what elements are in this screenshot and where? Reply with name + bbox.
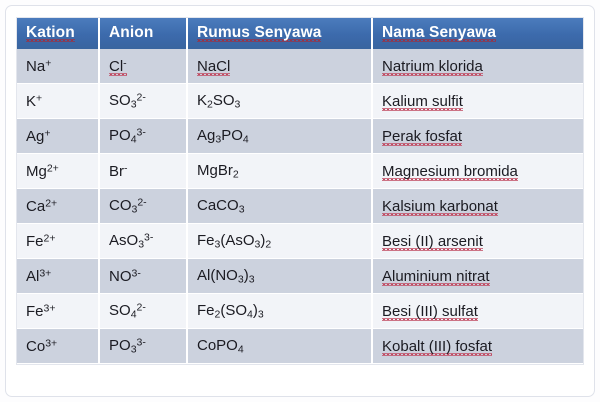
table-header: KationAnionRumus SenyawaNama Senyawa [17, 18, 583, 49]
cell-rumus[interactable]: Ag3PO4 [187, 119, 372, 154]
cell-anion[interactable]: Br- [99, 154, 187, 189]
column-header-label: Kation [26, 24, 75, 42]
chemistry-compounds-table: KationAnionRumus SenyawaNama Senyawa Na+… [17, 18, 583, 364]
table-row[interactable]: Fe2+AsO33-Fe3(AsO3)2Besi (II) arsenit [17, 224, 583, 259]
cell-value: Natrium klorida [382, 58, 483, 76]
cell-value: Fe2(SO4)3 [197, 302, 264, 319]
cell-anion[interactable]: PO43- [99, 119, 187, 154]
cell-value: Ag3PO4 [197, 127, 249, 144]
table-row[interactable]: K+SO32-K2SO3Kalium sulfit [17, 84, 583, 119]
cell-value: K+ [26, 93, 42, 110]
table-row[interactable]: Co3+PO33-CoPO4Kobalt (III) fosfat [17, 329, 583, 364]
cell-anion[interactable]: Cl- [99, 49, 187, 84]
cell-value: K2SO3 [197, 92, 240, 109]
header-row: KationAnionRumus SenyawaNama Senyawa [17, 18, 583, 49]
cell-nama[interactable]: Besi (III) sulfat [372, 294, 583, 329]
cell-value: CO32- [109, 197, 147, 214]
cell-value: Al3+ [26, 268, 51, 285]
cell-rumus[interactable]: Fe2(SO4)3 [187, 294, 372, 329]
cell-kation[interactable]: Na+ [17, 49, 99, 84]
cell-nama[interactable]: Kalium sulfit [372, 84, 583, 119]
cell-value: Kobalt (III) fosfat [382, 338, 492, 356]
cell-value: Kalsium karbonat [382, 198, 498, 216]
cell-rumus[interactable]: Al(NO3)3 [187, 259, 372, 294]
table-row[interactable]: Fe3+SO42-Fe2(SO4)3Besi (III) sulfat [17, 294, 583, 329]
cell-kation[interactable]: K+ [17, 84, 99, 119]
cell-value: Fe2+ [26, 233, 56, 250]
column-header-label: Rumus Senyawa [197, 24, 321, 42]
column-header-label: Anion [109, 24, 153, 41]
cell-value: Magnesium bromida [382, 163, 518, 181]
cell-value: Kalium sulfit [382, 93, 463, 111]
column-header-rumus[interactable]: Rumus Senyawa [187, 18, 372, 49]
cell-kation[interactable]: Al3+ [17, 259, 99, 294]
table-row[interactable]: Al3+NO3-Al(NO3)3Aluminium nitrat [17, 259, 583, 294]
cell-value: SO32- [109, 92, 146, 109]
cell-nama[interactable]: Kobalt (III) fosfat [372, 329, 583, 364]
cell-rumus[interactable]: CoPO4 [187, 329, 372, 364]
cell-value: Mg2+ [26, 163, 59, 180]
cell-nama[interactable]: Besi (II) arsenit [372, 224, 583, 259]
cell-nama[interactable]: Aluminium nitrat [372, 259, 583, 294]
cell-value: SO42- [109, 302, 146, 319]
cell-rumus[interactable]: NaCl [187, 49, 372, 84]
cell-value: Co3+ [26, 338, 57, 355]
table-row[interactable]: Mg2+Br-MgBr2Magnesium bromida [17, 154, 583, 189]
cell-nama[interactable]: Perak fosfat [372, 119, 583, 154]
cell-value: Besi (II) arsenit [382, 233, 483, 251]
table-row[interactable]: Ag+PO43-Ag3PO4Perak fosfat [17, 119, 583, 154]
cell-value: MgBr2 [197, 162, 239, 179]
cell-rumus[interactable]: CaCO3 [187, 189, 372, 224]
cell-value: Cl- [109, 58, 127, 76]
cell-rumus[interactable]: MgBr2 [187, 154, 372, 189]
cell-value: CoPO4 [197, 337, 244, 354]
cell-value: Ca2+ [26, 198, 57, 215]
cell-value: PO43- [109, 127, 146, 144]
cell-anion[interactable]: SO32- [99, 84, 187, 119]
cell-value: Ag+ [26, 128, 51, 145]
cell-anion[interactable]: AsO33- [99, 224, 187, 259]
column-header-label: Nama Senyawa [382, 24, 496, 42]
cell-value: Na+ [26, 58, 51, 75]
cell-nama[interactable]: Kalsium karbonat [372, 189, 583, 224]
cell-value: Fe3+ [26, 303, 56, 320]
cell-value: PO33- [109, 337, 146, 354]
cell-kation[interactable]: Co3+ [17, 329, 99, 364]
cell-value: AsO33- [109, 232, 153, 249]
column-header-kation[interactable]: Kation [17, 18, 99, 49]
cell-value: Perak fosfat [382, 128, 462, 146]
cell-value: NaCl [197, 58, 230, 76]
table-body: Na+Cl-NaClNatrium kloridaK+SO32-K2SO3Kal… [17, 49, 583, 364]
cell-value: NO3- [109, 268, 141, 285]
cell-kation[interactable]: Mg2+ [17, 154, 99, 189]
cell-kation[interactable]: Ag+ [17, 119, 99, 154]
cell-anion[interactable]: SO42- [99, 294, 187, 329]
cell-value: Aluminium nitrat [382, 268, 490, 286]
cell-value: Br- [109, 163, 128, 180]
cell-kation[interactable]: Fe3+ [17, 294, 99, 329]
cell-value: CaCO3 [197, 197, 245, 214]
cell-rumus[interactable]: Fe3(AsO3)2 [187, 224, 372, 259]
cell-value: Besi (III) sulfat [382, 303, 478, 321]
cell-nama[interactable]: Magnesium bromida [372, 154, 583, 189]
cell-rumus[interactable]: K2SO3 [187, 84, 372, 119]
cell-anion[interactable]: NO3- [99, 259, 187, 294]
cell-anion[interactable]: CO32- [99, 189, 187, 224]
column-header-anion[interactable]: Anion [99, 18, 187, 49]
table-row[interactable]: Na+Cl-NaClNatrium klorida [17, 49, 583, 84]
cell-value: Fe3(AsO3)2 [197, 232, 271, 249]
cell-kation[interactable]: Fe2+ [17, 224, 99, 259]
document-page: KationAnionRumus SenyawaNama Senyawa Na+… [0, 0, 600, 402]
column-header-nama[interactable]: Nama Senyawa [372, 18, 583, 49]
cell-kation[interactable]: Ca2+ [17, 189, 99, 224]
cell-value: Al(NO3)3 [197, 267, 255, 284]
cell-nama[interactable]: Natrium klorida [372, 49, 583, 84]
table-row[interactable]: Ca2+CO32-CaCO3Kalsium karbonat [17, 189, 583, 224]
cell-anion[interactable]: PO33- [99, 329, 187, 364]
